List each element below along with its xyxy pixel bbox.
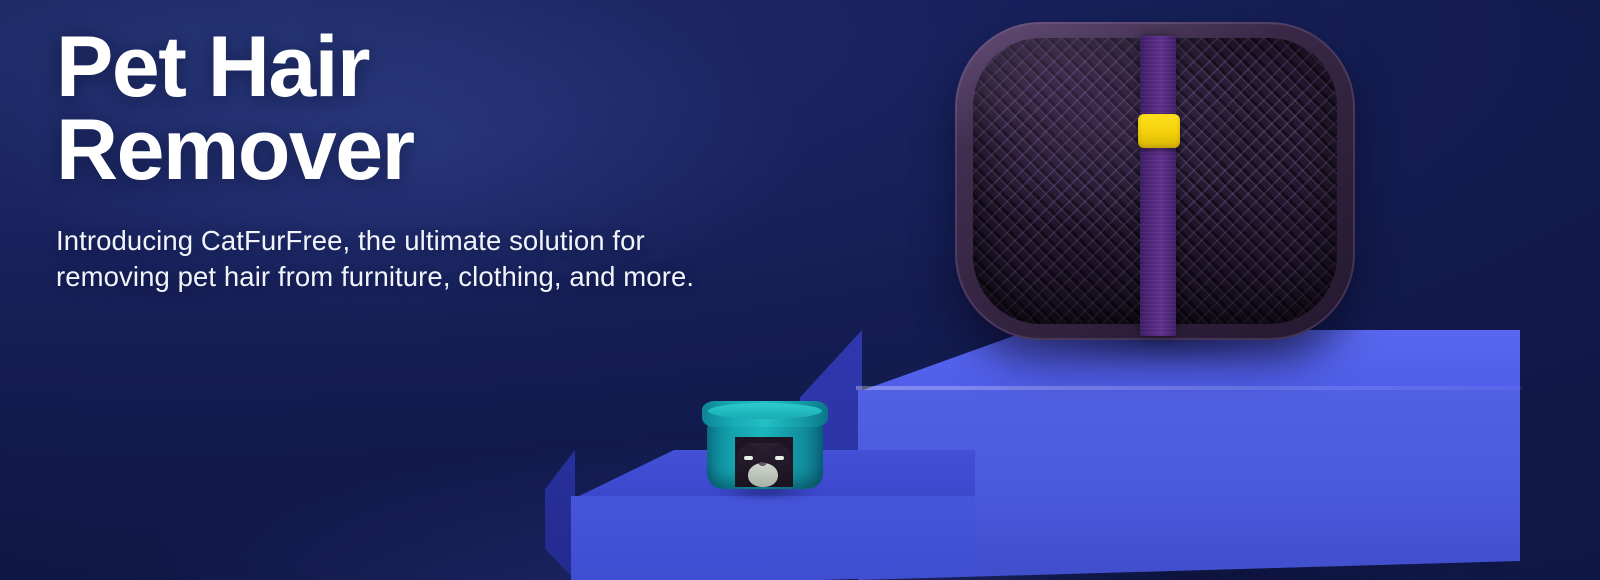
case-buckle — [1138, 114, 1180, 148]
cat-ear-right — [770, 440, 790, 456]
cat-fur-jar[interactable] — [702, 393, 828, 489]
podium-small-front-face — [571, 496, 975, 580]
podium-large-edge-highlight — [856, 386, 1522, 390]
tuxedo-cat-face-icon — [735, 437, 793, 487]
podium-small-side-face — [545, 450, 575, 580]
jar-lid-top — [708, 403, 822, 419]
page-title: Pet Hair Remover — [56, 26, 816, 193]
hero-banner: Pet Hair Remover Introducing CatFurFree,… — [0, 0, 1600, 580]
cat-muzzle — [748, 463, 778, 487]
cat-eye-left — [744, 456, 753, 460]
banner-subcopy: Introducing CatFurFree, the ultimate sol… — [56, 223, 756, 296]
banner-copy: Pet Hair Remover Introducing CatFurFree,… — [56, 26, 816, 296]
case-strap — [1140, 36, 1176, 336]
cat-nose — [759, 462, 766, 466]
jar-lid — [702, 401, 828, 427]
cat-eye-right — [775, 456, 784, 460]
pet-hair-remover-case[interactable] — [955, 22, 1355, 340]
cat-ear-left — [738, 440, 758, 456]
